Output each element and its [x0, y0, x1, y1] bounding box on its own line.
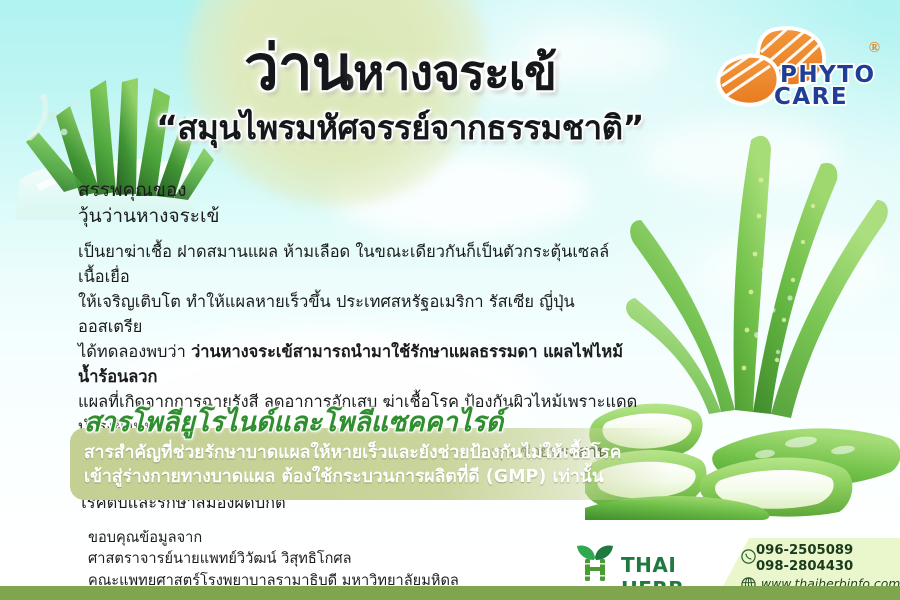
page-title: ว่านหางจระเข้: [60, 38, 740, 99]
registered-mark-icon: ®: [869, 40, 880, 57]
logo-text-care: CARE: [774, 84, 848, 110]
title-main-big: ว่าน: [244, 31, 353, 104]
title-subtitle-quote: “สมุนไพรมหัศจรรย์จากธรรมชาติ”: [60, 101, 740, 154]
phyto-care-logo: PHYTO CARE ®: [716, 24, 886, 110]
highlight-band-heading: สารโพลียูโรไนด์และโพลีแซคคาไรด์: [84, 400, 503, 443]
body-line-3: ได้ทดลองพบว่า ว่านหางจระเข้สามารถนำมาใช้…: [78, 339, 638, 389]
body-line-1: เป็นยาฆ่าเชื้อ ฝาดสมานแผล ห้ามเลือด ในขณ…: [78, 239, 638, 289]
footer-bar: THAI HERB 096-2505089 098-2804430: [545, 538, 900, 586]
globe-icon: [741, 577, 756, 586]
credits-line-2: ศาสตราจารย์นายแพทย์วิวัฒน์ วิสุทธิโกศล: [88, 548, 459, 569]
footer-website-row[interactable]: www.thaiherbinfo.com: [741, 578, 900, 586]
footer-phone-1[interactable]: 096-2505089: [756, 544, 853, 557]
footer-phone-2[interactable]: 098-2804430: [756, 560, 853, 573]
phone-icon: [741, 549, 756, 569]
body-subheading-line2: วุ้นว่านหางจระเข้: [78, 204, 638, 230]
body-subheading-line1: สรรพคุณของ: [78, 178, 638, 204]
highlight-band: สารโพลียูโรไนด์และโพลีแซคคาไรด์ สารสำคัญ…: [70, 400, 670, 500]
bottom-green-strip: [0, 586, 900, 600]
thai-herb-leaf-icon: [573, 544, 617, 582]
body-line-2: ให้เจริญเติบโต ทำให้แผลหายเร็วขึ้น ประเท…: [78, 289, 638, 339]
poster-canvas: PHYTO CARE ® ว่านหางจระเข้ “สมุนไพรมหัศจ…: [0, 0, 900, 600]
title-block: ว่านหางจระเข้ “สมุนไพรมหัศจรรย์จากธรรมชา…: [60, 38, 740, 154]
body-line-3-prefix: ได้ทดลองพบว่า: [78, 342, 191, 361]
thai-herb-logo: THAI HERB: [573, 544, 723, 582]
title-main-small: หางจระเข้: [353, 45, 556, 101]
highlight-band-line2: เข้าสู่ร่างกายทางบาดแผล ต้องใช้กระบวนการ…: [84, 462, 604, 490]
footer-contact-block: 096-2505089 098-2804430 www.thaiherbinfo…: [741, 544, 900, 586]
footer-phone-group: 096-2505089 098-2804430: [741, 544, 900, 573]
credits-line-1: ขอบคุณข้อมูลจาก: [88, 527, 459, 548]
thai-herb-wordmark: THAI HERB: [621, 553, 723, 586]
footer-website[interactable]: www.thaiherbinfo.com: [761, 578, 900, 586]
credits-block: ขอบคุณข้อมูลจาก ศาสตราจารย์นายแพทย์วิวัฒ…: [88, 527, 459, 591]
